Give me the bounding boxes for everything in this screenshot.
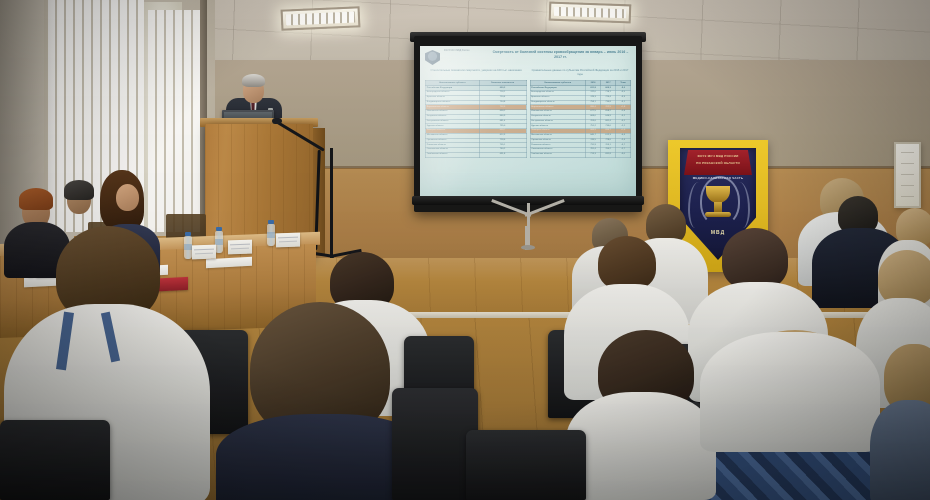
- slide-table-cell: 691,8: [479, 152, 526, 157]
- screen-tripod-foot: [521, 245, 535, 250]
- ceiling-light-panel: [281, 6, 361, 30]
- emblem-shield-header: ФКУЗ МСЧ МВД РОССИИ ПО РЯЗАНСКОЙ ОБЛАСТИ: [684, 150, 752, 175]
- slide-logo-caption: ФКУЗ МСЧ МВД России: [444, 50, 486, 53]
- banner-line-2: ПО РЯЗАНСКОЙ ОБЛАСТИ: [684, 161, 752, 166]
- presentation-slide: ФКУЗ МСЧ МВД России Смертность от болезн…: [420, 46, 636, 198]
- slide-table-left: Наименование субъектаЗначение показателя…: [425, 80, 527, 157]
- name-card: [276, 233, 300, 248]
- projection-screen-surface: ФКУЗ МСЧ МВД России Смертность от болезн…: [420, 46, 636, 198]
- slide-table-cell: 691,8: [601, 152, 616, 157]
- slide-table-row: Тамбовская область691,8: [426, 152, 527, 157]
- slide-table-cell: 713,3: [586, 152, 601, 157]
- water-bottle[interactable]: [267, 224, 275, 246]
- water-bottle[interactable]: [184, 236, 192, 259]
- speaker-hair: [242, 74, 265, 87]
- slide-table-cell: -3,0: [616, 152, 631, 157]
- microphone-head-icon: [272, 118, 282, 124]
- slide-table-row: Тамбовская область713,3691,8-3,0: [530, 152, 631, 157]
- slide-subtitle-left: Относительные показатели смертности, уме…: [427, 69, 525, 77]
- emblem-bowl-base: [705, 212, 731, 217]
- notice-board[interactable]: [894, 142, 921, 208]
- ceiling-light-panel: [549, 2, 632, 24]
- window-blinds[interactable]: [148, 10, 202, 232]
- slide-logo-icon: [425, 50, 440, 65]
- slide-table-cell: Тамбовская область: [426, 152, 480, 157]
- water-bottle[interactable]: [215, 231, 223, 253]
- microphone-stand-pole: [330, 148, 333, 258]
- slide-subtitle-right: Сравнительные данные по субъектам Россий…: [531, 69, 629, 77]
- conference-hall-photo: ФКУЗ МСЧ МВД России Смертность от болезн…: [0, 0, 930, 500]
- banner-line-1: ФКУЗ МСЧ МВД РОССИИ: [684, 154, 752, 159]
- chair[interactable]: [0, 420, 110, 500]
- slide-table-right: Наименование субъекта20162017ТемпРоссийс…: [530, 80, 632, 157]
- slide-title: Смертность от болезней системы кровообра…: [490, 50, 631, 60]
- slide-table-cell: Тамбовская область: [530, 152, 586, 157]
- name-card: [228, 240, 252, 255]
- chair[interactable]: [466, 430, 586, 500]
- name-card: [192, 245, 216, 260]
